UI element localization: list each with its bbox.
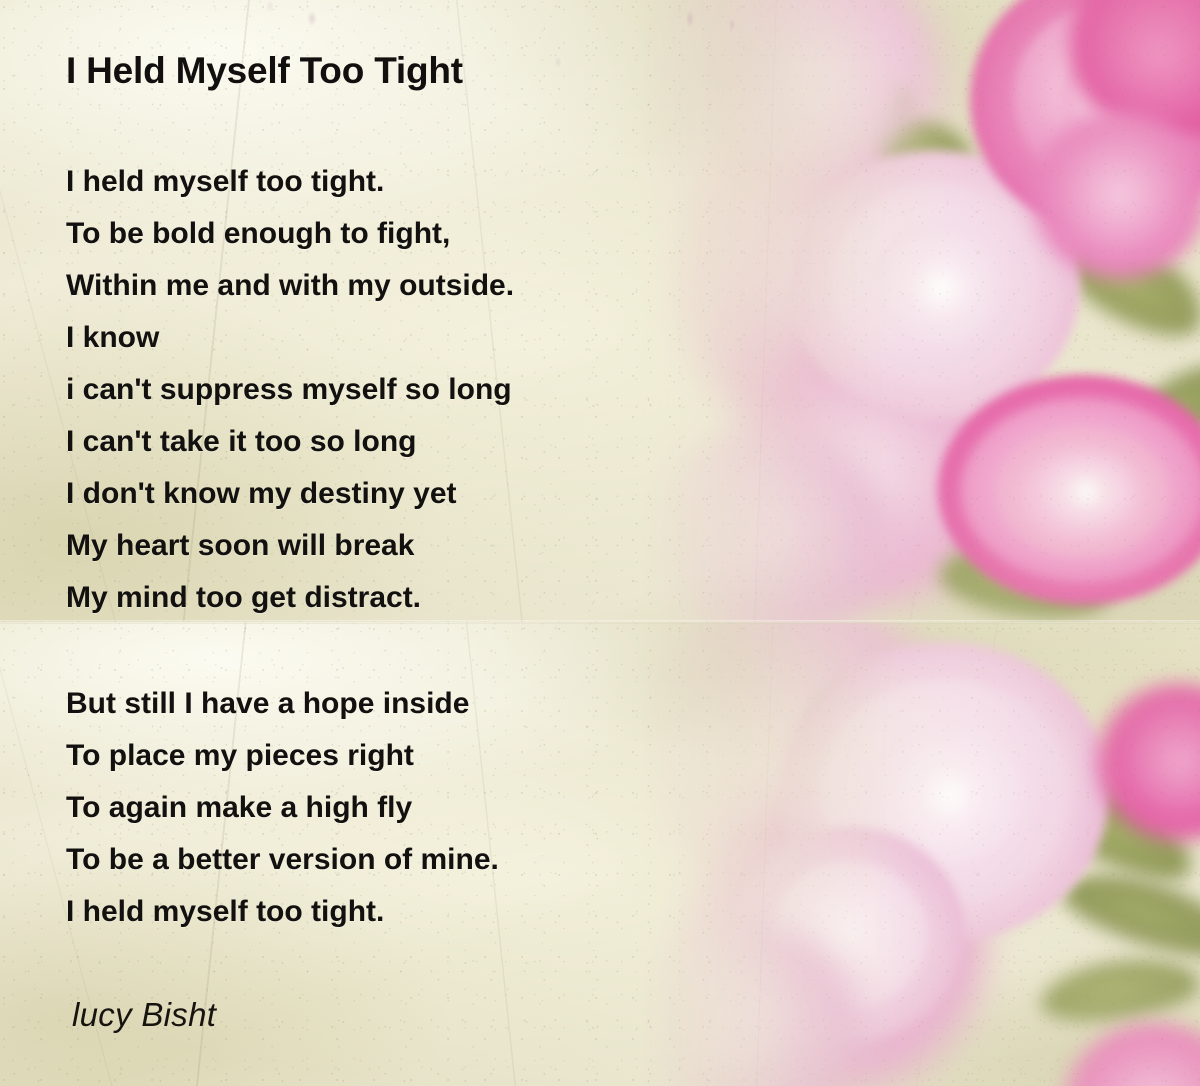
poem-line: My mind too get distract. [66,572,514,624]
page-title: I Held Myself Too Tight [66,50,463,92]
poem-stanza-1: I held myself too tight. To be bold enou… [66,156,514,624]
poem-author-signature: lucy Bisht [72,996,216,1034]
poem-line: To be a better version of mine. [66,834,499,886]
poem-line: To again make a high fly [66,782,499,834]
poem-text-layer: I Held Myself Too Tight I held myself to… [0,0,1200,1086]
poem-line: My heart soon will break [66,520,514,572]
poem-line: i can't suppress myself so long [66,364,514,416]
poem-line: I know [66,312,514,364]
poem-image-canvas: I Held Myself Too Tight I held myself to… [0,0,1200,1086]
poem-line: To place my pieces right [66,730,499,782]
poem-line: Within me and with my outside. [66,260,514,312]
poem-line: I can't take it too so long [66,416,514,468]
poem-line: I held myself too tight. [66,156,514,208]
poem-line: To be bold enough to fight, [66,208,514,260]
poem-stanza-2: But still I have a hope inside To place … [66,678,499,938]
poem-line: I don't know my destiny yet [66,468,514,520]
poem-line: I held myself too tight. [66,886,499,938]
poem-line: But still I have a hope inside [66,678,499,730]
